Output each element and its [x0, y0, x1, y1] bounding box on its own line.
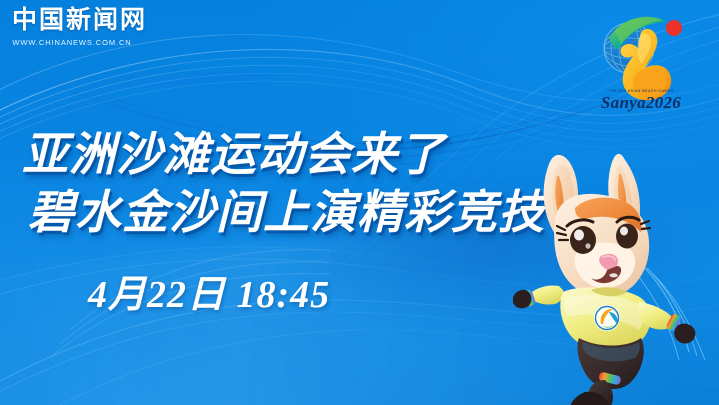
- headline-line-2: 碧水金沙间上演精彩竞技: [28, 184, 562, 242]
- mascot-leg: [571, 380, 613, 405]
- broadcast-datetime: 4月22日 18:45: [88, 272, 330, 318]
- headline-line-1: 亚洲沙滩运动会来了: [22, 126, 562, 184]
- mascot-shorts: [577, 338, 643, 389]
- mascot-arm-right: [637, 302, 695, 343]
- brand-website-url: WWW.CHINANEWS.COM.CN: [12, 38, 132, 47]
- mascot-arm-left: [513, 285, 564, 308]
- emblem-sun-icon: [666, 20, 682, 36]
- chinanews-logo[interactable]: 中国新闻网 WWW.CHINANEWS.COM.CN: [12, 8, 132, 47]
- mascot-illustration: [513, 146, 719, 405]
- mascot-jersey-emblem: [594, 305, 620, 331]
- news-promo-poster: 中国新闻网 WWW.CHINANEWS.COM.CN: [0, 0, 719, 405]
- headline-block: 亚洲沙滩运动会来了 碧水金沙间上演精彩竞技: [22, 126, 562, 242]
- sanya-2026-emblem: THE 6TH ASIAN BEACH GAMES Sanya2026: [571, 4, 711, 112]
- brand-name-cn: 中国新闻网: [12, 8, 132, 34]
- emblem-wordmark: Sanya2026: [571, 94, 711, 111]
